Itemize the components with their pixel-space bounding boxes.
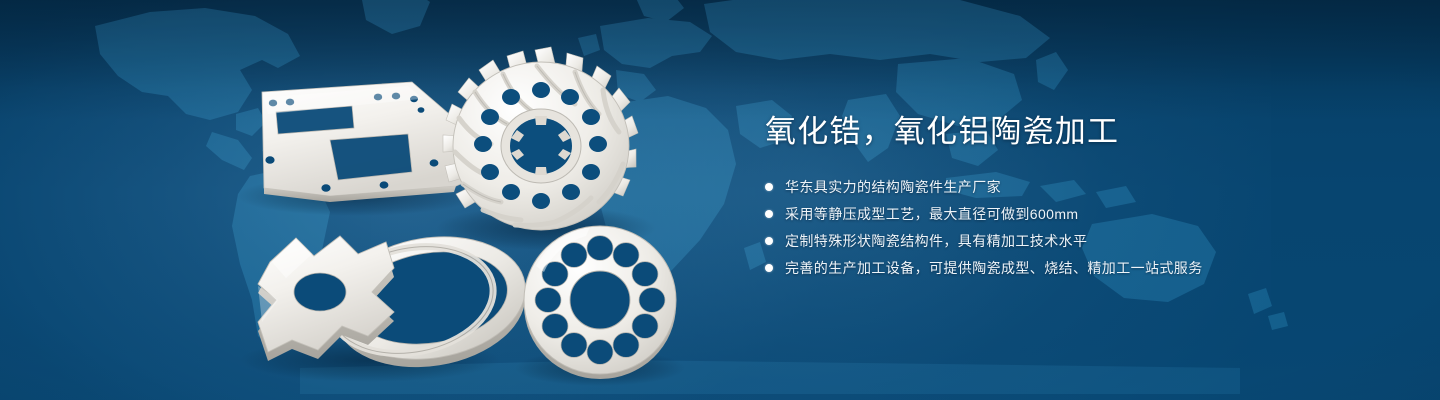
ceramic-impeller-part: [443, 47, 638, 230]
feature-text: 华东具实力的结构陶瓷件生产厂家: [785, 177, 1001, 197]
hero-banner: 氧化锆，氧化铝陶瓷加工 华东具实力的结构陶瓷件生产厂家 采用等静压成型工艺，最大…: [0, 0, 1440, 400]
feature-item: 采用等静压成型工艺，最大直径可做到600mm: [765, 203, 1385, 224]
banner-headline: 氧化锆，氧化铝陶瓷加工: [765, 112, 1385, 152]
feature-text: 采用等静压成型工艺，最大直径可做到600mm: [785, 204, 1078, 224]
feature-item: 完善的生产加工设备，可提供陶瓷成型、烧结、精加工一站式服务: [765, 257, 1385, 278]
feature-text: 完善的生产加工设备，可提供陶瓷成型、烧结、精加工一站式服务: [785, 258, 1203, 278]
bullet-dot-icon: [765, 264, 773, 272]
ceramic-products-image: [0, 0, 760, 400]
banner-feature-list: 华东具实力的结构陶瓷件生产厂家 采用等静压成型工艺，最大直径可做到600mm 定…: [765, 176, 1385, 278]
ceramic-perforated-disc-part: [524, 226, 676, 379]
ceramic-plate-part: [262, 82, 474, 202]
bullet-dot-icon: [765, 237, 773, 245]
feature-item: 华东具实力的结构陶瓷件生产厂家: [765, 176, 1385, 197]
feature-item: 定制特殊形状陶瓷结构件，具有精加工技术水平: [765, 230, 1385, 251]
banner-copy: 氧化锆，氧化铝陶瓷加工 华东具实力的结构陶瓷件生产厂家 采用等静压成型工艺，最大…: [765, 112, 1385, 284]
feature-text: 定制特殊形状陶瓷结构件，具有精加工技术水平: [785, 231, 1087, 251]
bullet-dot-icon: [765, 183, 773, 191]
bullet-dot-icon: [765, 210, 773, 218]
